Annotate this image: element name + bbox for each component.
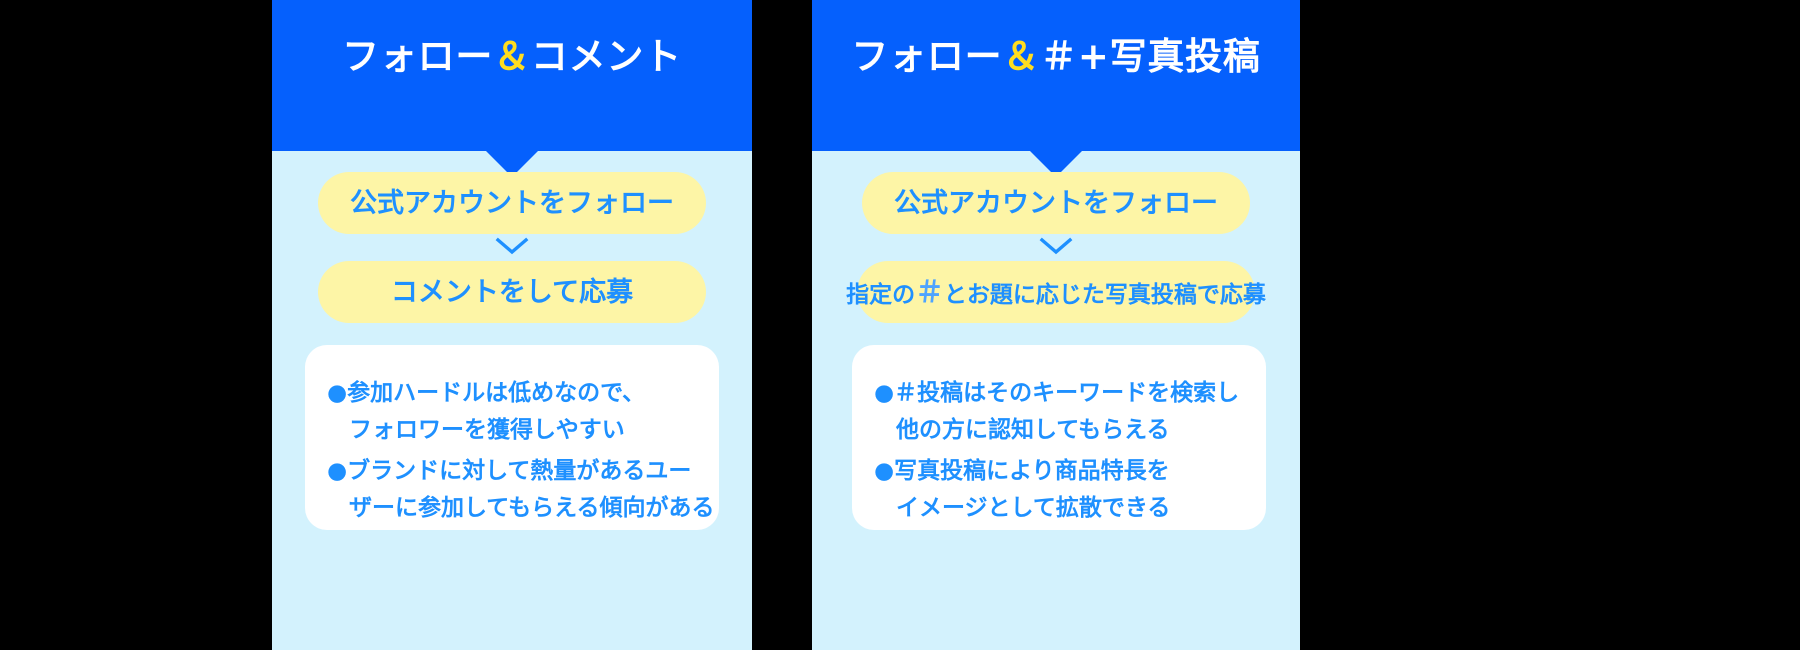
benefits-list-right: ●＃投稿はそのキーワードを検索し 他の方に認知してもらえる ●写真投稿により商品…	[874, 375, 1266, 527]
chevron-down-icon-left	[495, 236, 529, 256]
panel-title-right-part1: フォロー	[851, 35, 1002, 78]
step-pill-left-1-label: 公式アカウントをフォロー	[350, 190, 674, 217]
panel-title-left-part1: フォロー	[342, 35, 493, 78]
step-pill-left-2[interactable]: コメントをして応募	[318, 261, 706, 323]
panel-follow-hashtag-photo: フォロー＆＃+写真投稿 公式アカウントをフォロー 指定の＃とお題に応じた写真投稿…	[812, 0, 1300, 650]
benefits-card-left: ●参加ハードルは低めなので、 フォロワーを獲得しやすい ●ブランドに対して熱量が…	[305, 345, 719, 530]
hashtag-icon: ＃	[915, 275, 944, 309]
step-pill-left-1[interactable]: 公式アカウントをフォロー	[318, 172, 706, 234]
panel-title-left-ampersand: ＆	[493, 35, 531, 78]
bullet-dot-icon: ●	[874, 458, 894, 484]
panel-title-right: フォロー＆＃+写真投稿	[851, 38, 1260, 75]
benefit-item-left-1: ●参加ハードルは低めなので、 フォロワーを獲得しやすい	[327, 375, 719, 449]
comparison-diagram: フォロー＆コメント 公式アカウントをフォロー コメントをして応募 ●参加ハードル…	[0, 0, 1800, 650]
panel-header-right: フォロー＆＃+写真投稿	[812, 0, 1300, 151]
benefit-item-right-1: ●＃投稿はそのキーワードを検索し 他の方に認知してもらえる	[874, 375, 1266, 449]
panel-header-left: フォロー＆コメント	[272, 0, 752, 151]
chevron-down-icon-right	[1039, 236, 1073, 256]
panel-title-right-part2: ＃+写真投稿	[1040, 35, 1260, 78]
step-pill-right-1[interactable]: 公式アカウントをフォロー	[862, 172, 1250, 234]
benefit-item-right-1-line2: 他の方に認知してもらえる	[874, 412, 1266, 449]
step-pill-right-2[interactable]: 指定の＃とお題に応じた写真投稿で応募	[857, 261, 1255, 323]
panel-title-left-part2: コメント	[531, 35, 682, 78]
step-pill-right-2-label: 指定の＃とお題に応じた写真投稿で応募	[846, 278, 1266, 307]
benefit-item-right-1-line1: ＃投稿はそのキーワードを検索し	[894, 380, 1239, 406]
step-pill-left-2-label: コメントをして応募	[391, 279, 633, 306]
panel-title-right-ampersand: ＆	[1002, 35, 1040, 78]
benefit-item-left-1-line2: フォロワーを獲得しやすい	[327, 412, 719, 449]
step-pill-right-2-prefix: 指定の	[846, 282, 915, 308]
bullet-dot-icon: ●	[874, 380, 894, 406]
panel-title-left: フォロー＆コメント	[342, 38, 682, 75]
benefits-card-right: ●＃投稿はそのキーワードを検索し 他の方に認知してもらえる ●写真投稿により商品…	[852, 345, 1266, 530]
benefit-item-left-2-line1: ブランドに対して熱量があるユー	[347, 458, 691, 484]
step-pill-right-1-label: 公式アカウントをフォロー	[894, 190, 1218, 217]
benefit-item-left-2: ●ブランドに対して熱量があるユー ザーに参加してもらえる傾向がある	[327, 453, 719, 527]
bullet-dot-icon: ●	[327, 458, 347, 484]
benefit-item-right-2-line1: 写真投稿により商品特長を	[894, 458, 1170, 484]
benefit-item-left-1-line1: 参加ハードルは低めなので、	[347, 380, 645, 406]
bullet-dot-icon: ●	[327, 380, 347, 406]
panel-follow-comment: フォロー＆コメント 公式アカウントをフォロー コメントをして応募 ●参加ハードル…	[272, 0, 752, 650]
benefit-item-right-2-line2: イメージとして拡散できる	[874, 490, 1266, 527]
step-pill-right-2-suffix: とお題に応じた写真投稿で応募	[944, 282, 1266, 308]
benefit-item-left-2-line2: ザーに参加してもらえる傾向がある	[327, 490, 719, 527]
benefits-list-left: ●参加ハードルは低めなので、 フォロワーを獲得しやすい ●ブランドに対して熱量が…	[327, 375, 719, 527]
benefit-item-right-2: ●写真投稿により商品特長を イメージとして拡散できる	[874, 453, 1266, 527]
